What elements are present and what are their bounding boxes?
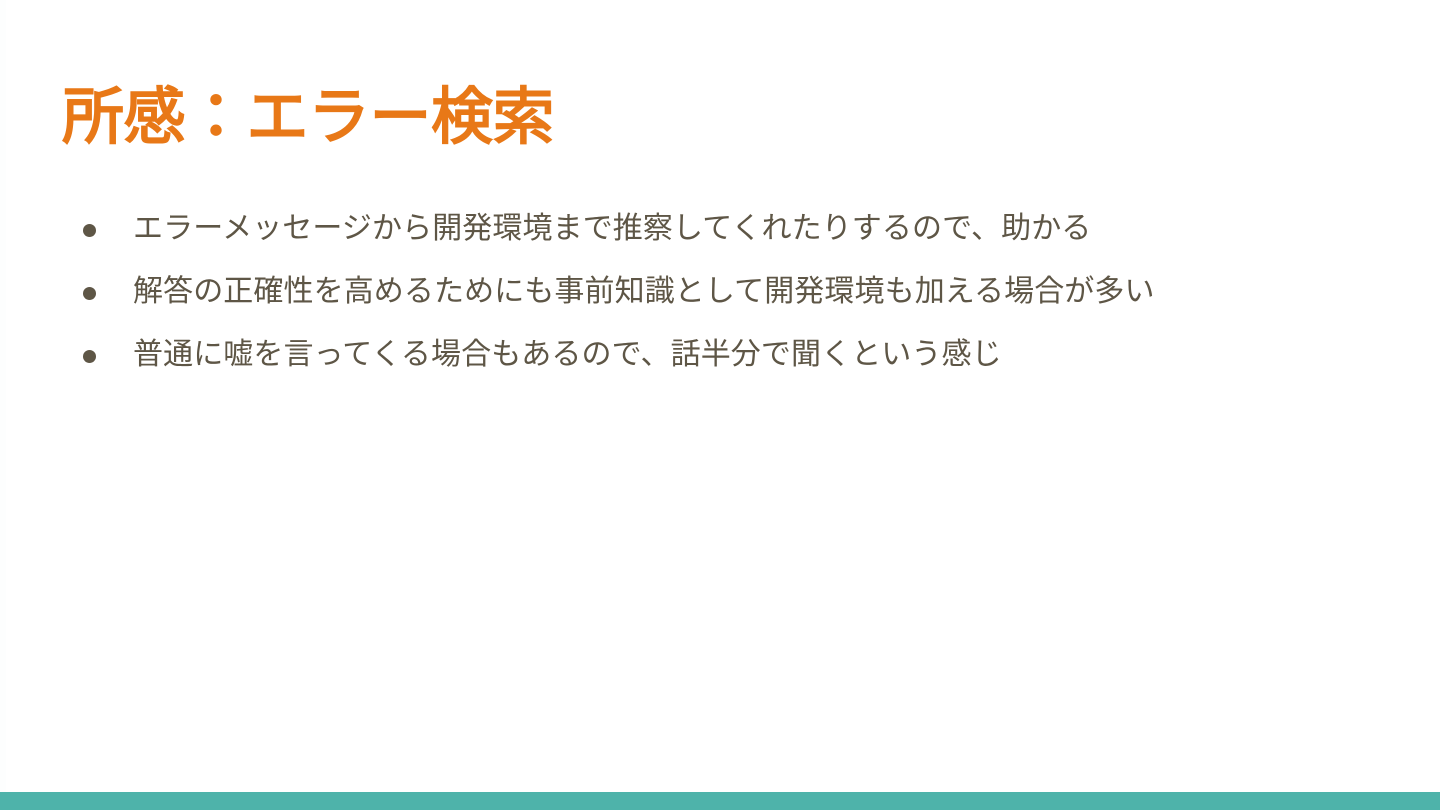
bullet-point-icon bbox=[83, 224, 96, 237]
presentation-slide: 所感：エラー検索 エラーメッセージから開発環境まで推察してくれたりするので、助か… bbox=[0, 0, 1440, 810]
list-item-label: 普通に嘘を言ってくる場合もあるので、話半分で聞くという感じ bbox=[133, 334, 1392, 377]
list-item: エラーメッセージから開発環境まで推察してくれたりするので、助かる bbox=[72, 208, 1392, 254]
list-item-label: エラーメッセージから開発環境まで推察してくれたりするので、助かる bbox=[133, 208, 1392, 251]
bullet-list: エラーメッセージから開発環境まで推察してくれたりするので、助かる 解答の正確性を… bbox=[72, 208, 1392, 397]
list-item: 普通に嘘を言ってくる場合もあるので、話半分で聞くという感じ bbox=[72, 334, 1392, 380]
bullet-point-icon bbox=[83, 287, 96, 300]
left-edge-decorative-stripe bbox=[0, 0, 6, 792]
footer-accent-bar bbox=[0, 792, 1440, 810]
page-title: 所感：エラー検索 bbox=[62, 83, 554, 152]
list-item-label: 解答の正確性を高めるためにも事前知識として開発環境も加える場合が多い bbox=[133, 271, 1392, 314]
list-item: 解答の正確性を高めるためにも事前知識として開発環境も加える場合が多い bbox=[72, 271, 1392, 317]
bullet-point-icon bbox=[83, 350, 96, 363]
